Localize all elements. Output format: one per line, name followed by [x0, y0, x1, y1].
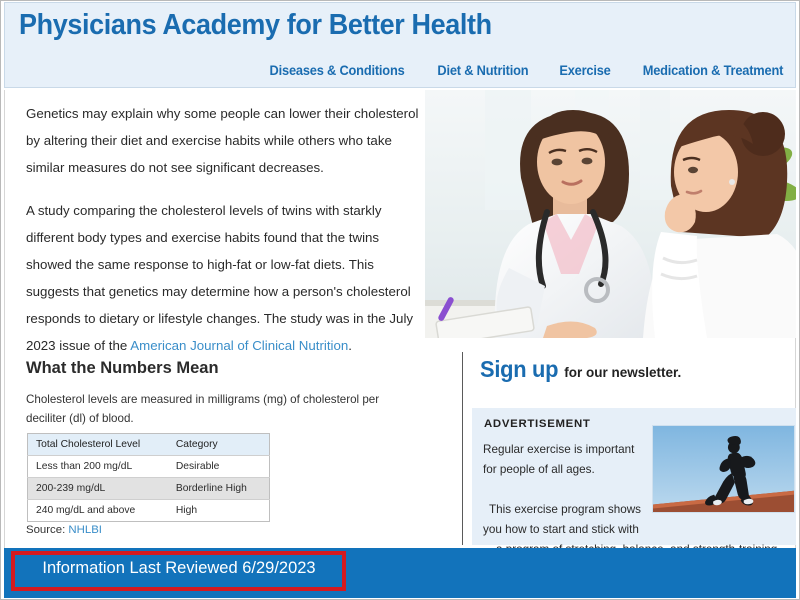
nav-item-exercise[interactable]: Exercise	[560, 63, 611, 78]
table-row: Less than 200 mg/dL Desirable	[28, 456, 270, 478]
journal-link[interactable]: American Journal of Clinical Nutrition	[130, 338, 348, 353]
information-last-reviewed: Information Last Reviewed 6/29/2023	[25, 558, 333, 578]
page-root: Physicians Academy for Better Health Dis…	[0, 0, 800, 600]
article-paragraph-2: A study comparing the cholesterol levels…	[26, 197, 426, 359]
article-body: Genetics may explain why some people can…	[26, 100, 426, 375]
doctor-patient-photo	[425, 90, 796, 338]
advertisement-line-2: for people of all ages.	[483, 463, 595, 476]
table-row: 200-239 mg/dL Borderline High	[28, 478, 270, 500]
article-paragraph-1: Genetics may explain why some people can…	[26, 100, 426, 181]
table-cell-category: High	[168, 500, 270, 522]
advertisement-box[interactable]: ADVERTISEMENT Regular exercise is import…	[472, 408, 796, 545]
table-cell-level: Less than 200 mg/dL	[28, 456, 168, 478]
signup-heading-strong[interactable]: Sign up	[480, 356, 558, 383]
table-cell-category: Borderline High	[168, 478, 270, 500]
main-navigation: Diseases & Conditions Diet & Nutrition E…	[5, 63, 787, 78]
numbers-section-heading: What the Numbers Mean	[26, 359, 219, 378]
nav-item-diseases-conditions[interactable]: Diseases & Conditions	[270, 63, 405, 78]
article-paragraph-2-text: A study comparing the cholesterol levels…	[26, 203, 413, 353]
numbers-section-subtext: Cholesterol levels are measured in milli…	[26, 390, 421, 428]
advertisement-line-1: Regular exercise is important	[483, 443, 634, 456]
signup-heading-rest: for our newsletter.	[564, 365, 681, 380]
nav-item-diet-nutrition[interactable]: Diet & Nutrition	[438, 63, 529, 78]
runner-photo	[652, 425, 795, 513]
nav-item-medication-treatment[interactable]: Medication & Treatment	[643, 63, 783, 78]
runner-illustration	[653, 426, 794, 512]
vertical-divider	[462, 352, 463, 545]
table-header-level: Total Cholesterol Level	[28, 434, 168, 456]
table-cell-level: 240 mg/dL and above	[28, 500, 168, 522]
article-paragraph-2-period: .	[348, 338, 352, 353]
table-header-category: Category	[168, 434, 270, 456]
page-title: Physicians Academy for Better Health	[19, 9, 492, 42]
source-label: Source:	[26, 524, 68, 536]
cholesterol-table: Total Cholesterol Level Category Less th…	[27, 433, 270, 522]
newsletter-signup[interactable]: Sign upfor our newsletter.	[478, 356, 681, 383]
table-body: Less than 200 mg/dL Desirable 200-239 mg…	[28, 456, 270, 522]
table-head: Total Cholesterol Level Category	[28, 434, 270, 456]
table-cell-category: Desirable	[168, 456, 270, 478]
advertisement-line-4: you how to start and stick with	[483, 523, 639, 536]
site-header: Physicians Academy for Better Health Dis…	[4, 2, 796, 88]
source-line: Source: NHLBI	[26, 524, 102, 536]
table-cell-level: 200-239 mg/dL	[28, 478, 168, 500]
doctor-patient-illustration	[425, 90, 796, 338]
source-link-nhlbi[interactable]: NHLBI	[68, 524, 102, 536]
table-row: 240 mg/dL and above High	[28, 500, 270, 522]
table-header-row: Total Cholesterol Level Category	[28, 434, 270, 456]
advertisement-label: ADVERTISEMENT	[484, 418, 591, 430]
